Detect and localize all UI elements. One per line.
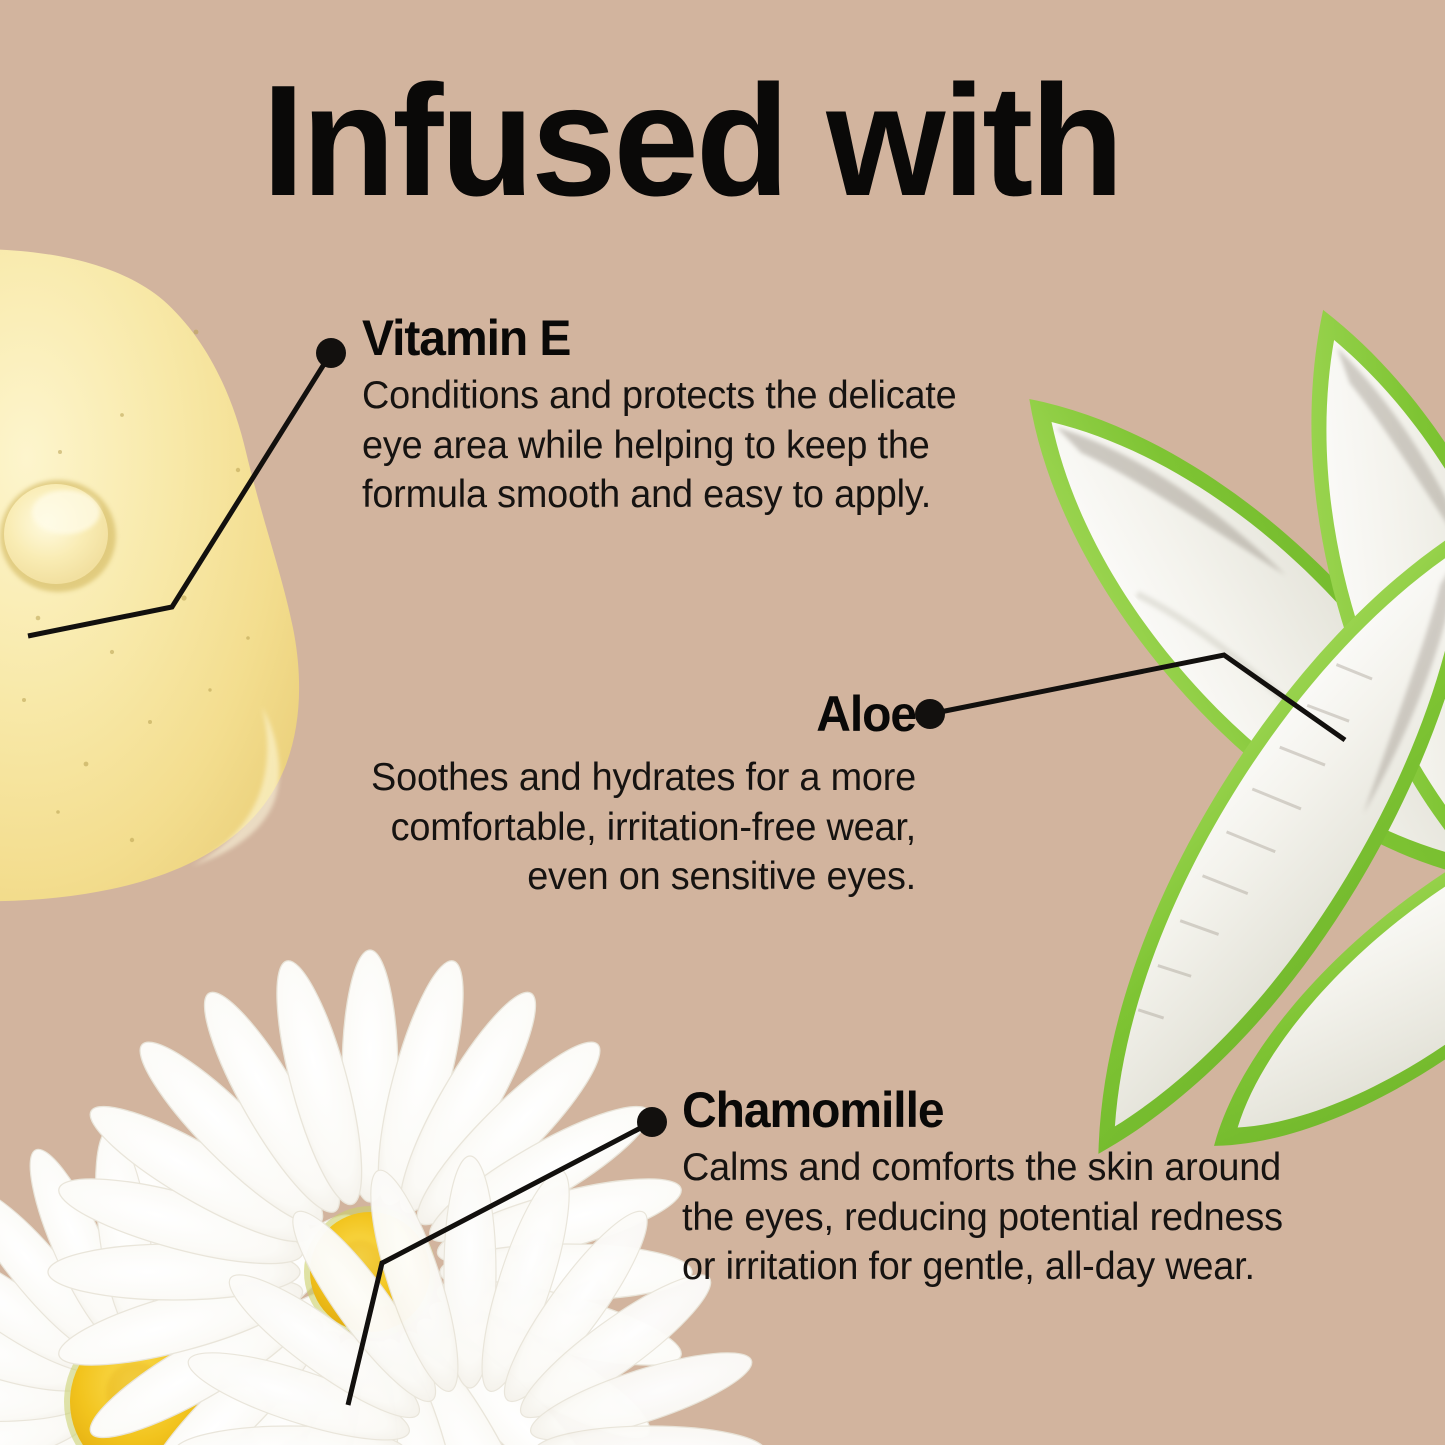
leader-line-vitamin-e <box>28 353 331 636</box>
ingredient-name-aloe: Aloe <box>321 688 916 741</box>
ingredient-description-vitamin-e: Conditions and protects the delicate eye… <box>362 371 1002 520</box>
marker-dot-chamomille <box>637 1107 667 1137</box>
ingredient-block-aloe: Aloe Soothes and hydrates for a more com… <box>296 688 916 902</box>
ingredient-name-chamomille: Chamomille <box>682 1084 1316 1137</box>
ingredient-description-aloe: Soothes and hydrates for a more comforta… <box>315 753 916 902</box>
leader-line-chamomille <box>348 1122 652 1405</box>
ingredient-name-vitamin-e: Vitamin E <box>362 312 996 365</box>
leader-line-aloe <box>930 655 1345 740</box>
infographic-canvas: Infused with Vitamin E Conditions and pr… <box>0 0 1445 1445</box>
ingredient-block-chamomille: Chamomille Calms and comforts the skin a… <box>682 1084 1342 1292</box>
marker-dot-aloe <box>915 699 945 729</box>
marker-dot-vitamin-e <box>316 338 346 368</box>
ingredient-description-chamomille: Calms and comforts the skin around the e… <box>682 1143 1322 1292</box>
ingredient-block-vitamin-e: Vitamin E Conditions and protects the de… <box>362 312 1022 520</box>
